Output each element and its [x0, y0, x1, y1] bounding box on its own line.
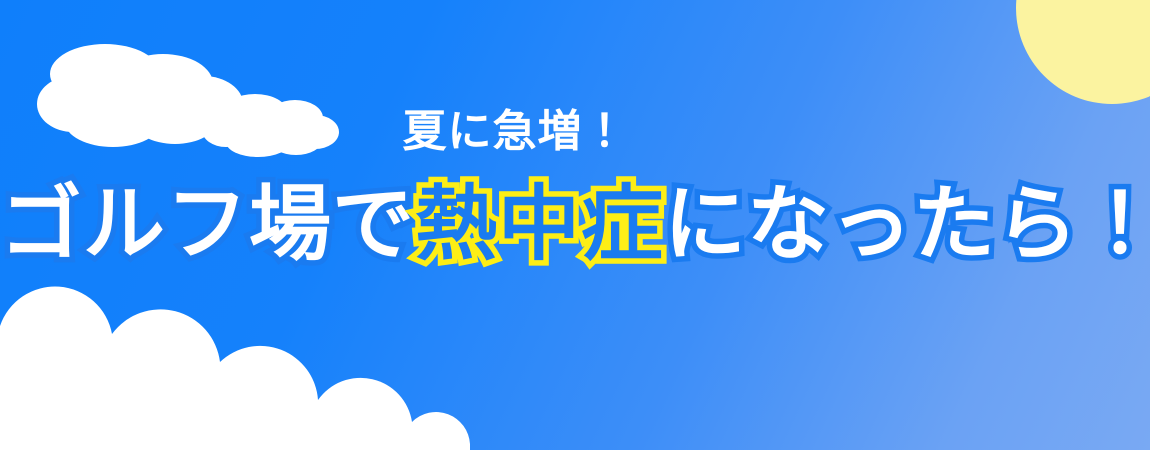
cloud-bottom-bank — [0, 296, 470, 450]
headline-part-1: ゴルフ場で — [0, 179, 415, 270]
heatstroke-golf-banner: 夏に急増！ ゴルフ場で熱中症になったら！ — [0, 0, 1150, 450]
banner-headline: ゴルフ場で熱中症になったら！ — [0, 182, 1150, 268]
headline-part-3: になったら！ — [664, 179, 1150, 270]
cloud-top-small — [200, 92, 340, 160]
headline-part-accent: 熱中症 — [415, 179, 664, 270]
sun-icon — [1016, 0, 1150, 104]
